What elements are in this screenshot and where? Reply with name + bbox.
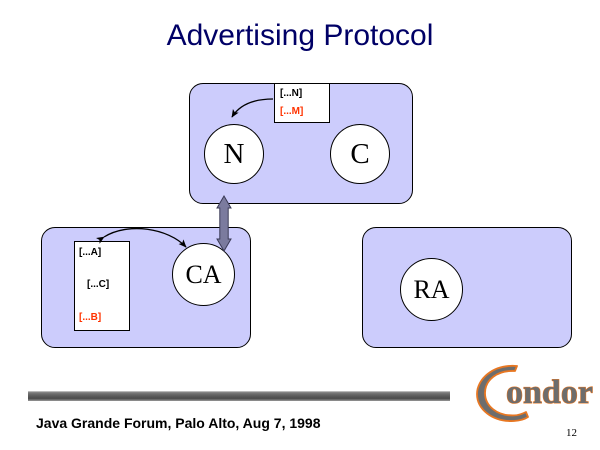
footer-caption: Java Grande Forum, Palo Alto, Aug 7, 199… bbox=[36, 415, 321, 431]
ad-box-top: [...N] [...M] bbox=[274, 83, 330, 123]
agent-circle-n: N bbox=[204, 124, 264, 184]
ad-line-m: [...M] bbox=[280, 107, 303, 117]
slide-canvas: Advertising Protocol N C CA RA [...N] [.… bbox=[0, 0, 600, 450]
agent-circle-ca: CA bbox=[172, 243, 235, 306]
footer-rule bbox=[28, 391, 450, 401]
ad-line-c: [...C] bbox=[87, 280, 109, 290]
ad-box-bottom-left: [...A] [...C] [...B] bbox=[74, 241, 130, 331]
ad-line-a: [...A] bbox=[79, 248, 101, 258]
bottom-right-group-box bbox=[362, 227, 572, 348]
condor-logo-wordmark: ondor bbox=[506, 374, 593, 411]
ad-line-b: [...B] bbox=[79, 313, 101, 323]
page-title: Advertising Protocol bbox=[0, 19, 600, 53]
page-number: 12 bbox=[566, 427, 577, 439]
condor-logo: ondor bbox=[470, 360, 600, 425]
agent-circle-ra: RA bbox=[400, 258, 463, 321]
ad-line-n: [...N] bbox=[280, 89, 302, 99]
agent-circle-c: C bbox=[330, 124, 390, 184]
